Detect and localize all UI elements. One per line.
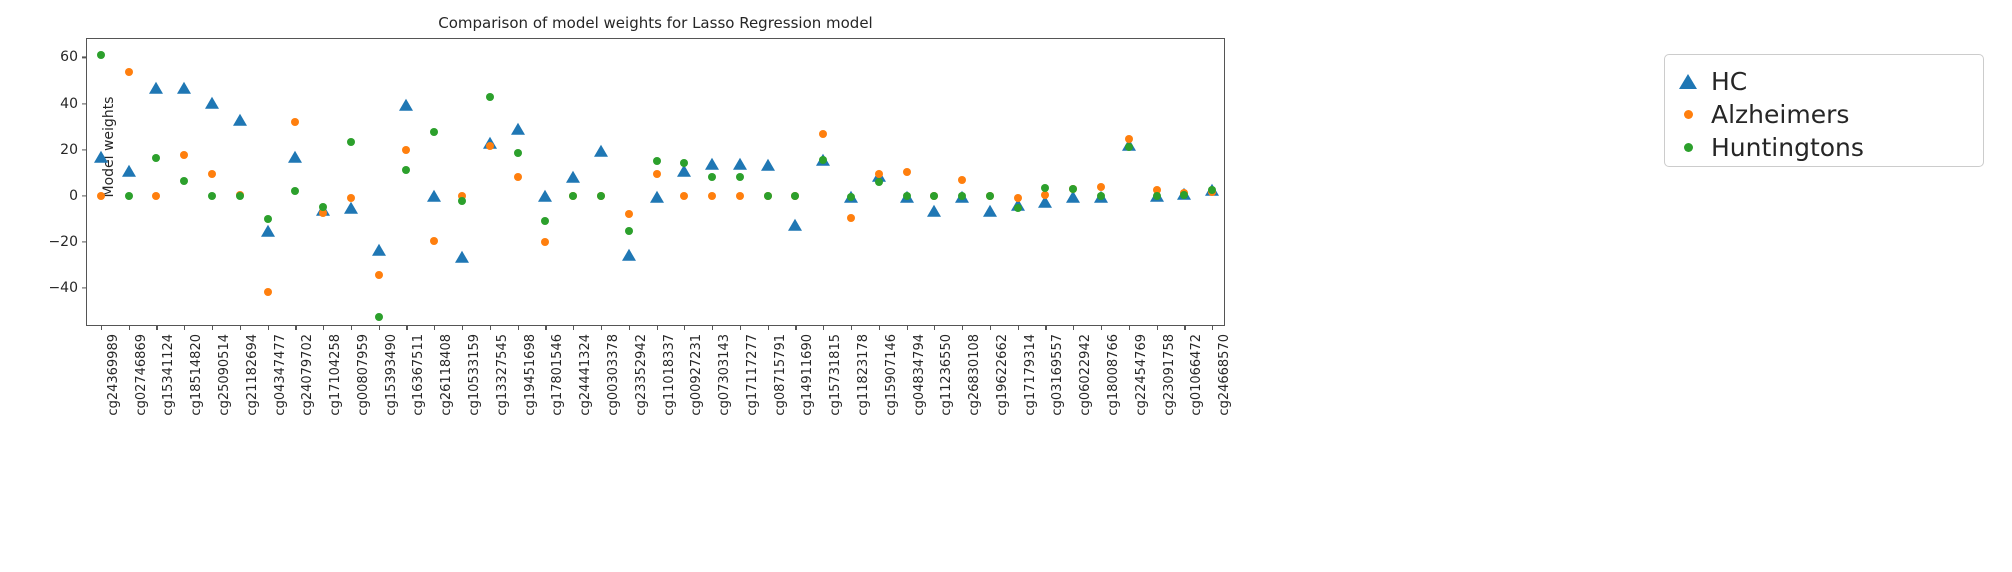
x-tick-label: cg06022942 bbox=[1078, 334, 1093, 416]
data-point-huntingtons bbox=[736, 173, 744, 181]
data-point-alzheimers bbox=[402, 146, 410, 154]
data-point-hc bbox=[122, 165, 136, 177]
x-tick-mark bbox=[573, 325, 574, 330]
data-point-huntingtons bbox=[1097, 192, 1105, 200]
x-tick-mark bbox=[406, 325, 407, 330]
legend-glyph bbox=[1679, 74, 1697, 89]
data-point-huntingtons bbox=[708, 173, 716, 181]
data-point-hc bbox=[788, 219, 802, 231]
legend-item-huntingtons[interactable]: Huntingtons bbox=[1665, 129, 1983, 165]
y-tick-label: 0 bbox=[69, 188, 78, 204]
data-point-huntingtons bbox=[680, 159, 688, 167]
x-tick-label: cg23091758 bbox=[1162, 334, 1177, 416]
x-tick-label: cg04834794 bbox=[912, 334, 927, 416]
x-tick-mark bbox=[629, 325, 630, 330]
x-tick-label: cg19451698 bbox=[523, 334, 538, 416]
data-point-huntingtons bbox=[264, 215, 272, 223]
x-tick-label: cg01066472 bbox=[1189, 334, 1204, 416]
x-tick-mark bbox=[379, 325, 380, 330]
data-point-hc bbox=[538, 190, 552, 202]
x-tick-label: cg15731815 bbox=[828, 334, 843, 416]
x-tick-label: cg21182694 bbox=[245, 334, 260, 416]
data-point-alzheimers bbox=[958, 176, 966, 184]
x-tick-label: cg26830108 bbox=[967, 334, 982, 416]
data-point-huntingtons bbox=[319, 203, 327, 211]
x-tick-mark bbox=[212, 325, 213, 330]
x-tick-label: cg02746869 bbox=[134, 334, 149, 416]
x-tick-label: cg04347477 bbox=[273, 334, 288, 416]
x-tick-mark bbox=[768, 325, 769, 330]
legend-marker-huntingtons-icon bbox=[1665, 143, 1711, 152]
data-point-alzheimers bbox=[208, 170, 216, 178]
y-tick-label: 20 bbox=[60, 142, 78, 158]
x-tick-label: cg17801546 bbox=[550, 334, 565, 416]
x-tick-label: cg13327545 bbox=[495, 334, 510, 416]
data-point-hc bbox=[566, 171, 580, 183]
y-tick-label: −40 bbox=[48, 280, 78, 296]
x-tick-mark bbox=[657, 325, 658, 330]
x-tick-label: cg11236550 bbox=[939, 334, 954, 416]
x-tick-mark bbox=[101, 325, 102, 330]
data-point-huntingtons bbox=[97, 51, 105, 59]
x-tick-label: cg00303378 bbox=[606, 334, 621, 416]
data-point-huntingtons bbox=[375, 313, 383, 321]
legend-glyph bbox=[1684, 143, 1693, 152]
x-tick-mark bbox=[1157, 325, 1158, 330]
data-point-alzheimers bbox=[1125, 135, 1133, 143]
data-point-huntingtons bbox=[541, 217, 549, 225]
x-tick-label: cg15907146 bbox=[884, 334, 899, 416]
legend-label: Huntingtons bbox=[1711, 133, 1864, 162]
data-point-alzheimers bbox=[125, 68, 133, 76]
x-tick-label: cg18514820 bbox=[189, 334, 204, 416]
scatter-points-layer bbox=[87, 39, 1224, 325]
x-tick-mark bbox=[907, 325, 908, 330]
x-tick-mark bbox=[934, 325, 935, 330]
x-tick-mark bbox=[268, 325, 269, 330]
x-tick-label: cg18008766 bbox=[1106, 334, 1121, 416]
x-tick-label: cg15341124 bbox=[161, 334, 176, 416]
x-tick-label: cg22454769 bbox=[1134, 334, 1149, 416]
data-point-hc bbox=[261, 224, 275, 236]
x-tick-label: cg25090514 bbox=[217, 334, 232, 416]
data-point-hc bbox=[372, 244, 386, 256]
x-tick-label: cg24441324 bbox=[578, 334, 593, 416]
data-point-alzheimers bbox=[1097, 183, 1105, 191]
data-point-huntingtons bbox=[903, 192, 911, 200]
x-tick-mark bbox=[295, 325, 296, 330]
x-tick-mark bbox=[129, 325, 130, 330]
data-point-alzheimers bbox=[291, 118, 299, 126]
x-tick-mark bbox=[545, 325, 546, 330]
x-tick-label: cg24369989 bbox=[106, 334, 121, 416]
data-point-huntingtons bbox=[597, 192, 605, 200]
x-tick-mark bbox=[1018, 325, 1019, 330]
chart-title: Comparison of model weights for Lasso Re… bbox=[86, 14, 1225, 32]
data-point-huntingtons bbox=[402, 166, 410, 174]
legend-marker-alzheimers-icon bbox=[1665, 110, 1711, 119]
legend-item-hc[interactable]: HC bbox=[1665, 63, 1983, 99]
data-point-huntingtons bbox=[152, 154, 160, 162]
x-tick-mark bbox=[1045, 325, 1046, 330]
x-tick-mark bbox=[1184, 325, 1185, 330]
x-tick-mark bbox=[879, 325, 880, 330]
x-tick-mark bbox=[156, 325, 157, 330]
x-tick-mark bbox=[795, 325, 796, 330]
data-point-hc bbox=[733, 158, 747, 170]
data-point-hc bbox=[399, 99, 413, 111]
data-point-huntingtons bbox=[486, 93, 494, 101]
data-point-alzheimers bbox=[819, 130, 827, 138]
data-point-alzheimers bbox=[903, 168, 911, 176]
x-tick-label: cg11823178 bbox=[856, 334, 871, 416]
x-tick-mark bbox=[1101, 325, 1102, 330]
data-point-hc bbox=[455, 251, 469, 263]
x-tick-mark bbox=[1212, 325, 1213, 330]
data-point-hc bbox=[94, 151, 108, 163]
x-tick-mark bbox=[434, 325, 435, 330]
data-point-huntingtons bbox=[514, 149, 522, 157]
data-point-hc bbox=[761, 159, 775, 171]
x-tick-mark bbox=[990, 325, 991, 330]
data-point-huntingtons bbox=[930, 192, 938, 200]
data-point-alzheimers bbox=[708, 192, 716, 200]
data-point-alzheimers bbox=[180, 151, 188, 159]
legend-glyph bbox=[1684, 110, 1693, 119]
x-tick-mark bbox=[184, 325, 185, 330]
data-point-alzheimers bbox=[1041, 191, 1049, 199]
x-tick-mark bbox=[323, 325, 324, 330]
data-point-hc bbox=[149, 81, 163, 93]
x-tick-label: cg17104258 bbox=[328, 334, 343, 416]
x-tick-label: cg17117277 bbox=[745, 334, 760, 416]
x-tick-mark bbox=[351, 325, 352, 330]
x-tick-label: cg07303143 bbox=[717, 334, 732, 416]
matplotlib-figure: Comparison of model weights for Lasso Re… bbox=[0, 0, 2012, 572]
data-point-hc bbox=[344, 202, 358, 214]
data-point-huntingtons bbox=[180, 177, 188, 185]
data-point-hc bbox=[594, 145, 608, 157]
data-point-huntingtons bbox=[1125, 143, 1133, 151]
data-point-huntingtons bbox=[1069, 185, 1077, 193]
data-point-hc bbox=[650, 191, 664, 203]
data-point-alzheimers bbox=[1014, 194, 1022, 202]
x-tick-label: cg23352942 bbox=[634, 334, 649, 416]
plot-axes: Model weights 6040200−20−40 cg24369989cg… bbox=[86, 38, 1225, 326]
x-tick-label: cg03169557 bbox=[1050, 334, 1065, 416]
data-point-huntingtons bbox=[791, 192, 799, 200]
x-tick-mark bbox=[518, 325, 519, 330]
x-tick-mark bbox=[490, 325, 491, 330]
data-point-alzheimers bbox=[97, 192, 105, 200]
x-tick-label: cg17179314 bbox=[1023, 334, 1038, 416]
data-point-huntingtons bbox=[819, 156, 827, 164]
data-point-alzheimers bbox=[847, 214, 855, 222]
data-point-alzheimers bbox=[375, 271, 383, 279]
data-point-huntingtons bbox=[653, 157, 661, 165]
data-point-huntingtons bbox=[875, 178, 883, 186]
data-point-huntingtons bbox=[347, 138, 355, 146]
data-point-alzheimers bbox=[347, 194, 355, 202]
data-point-hc bbox=[288, 151, 302, 163]
y-tick-label: −20 bbox=[48, 234, 78, 250]
data-point-hc bbox=[511, 123, 525, 135]
data-point-hc bbox=[622, 249, 636, 261]
x-tick-label: cg16367511 bbox=[411, 334, 426, 416]
data-point-huntingtons bbox=[208, 192, 216, 200]
data-point-alzheimers bbox=[736, 192, 744, 200]
x-tick-mark bbox=[684, 325, 685, 330]
x-tick-label: cg19622662 bbox=[995, 334, 1010, 416]
data-point-huntingtons bbox=[430, 128, 438, 136]
data-point-hc bbox=[427, 190, 441, 202]
data-point-huntingtons bbox=[625, 227, 633, 235]
data-point-hc bbox=[233, 114, 247, 126]
data-point-alzheimers bbox=[653, 170, 661, 178]
legend-marker-hc-icon bbox=[1665, 74, 1711, 89]
x-tick-mark bbox=[601, 325, 602, 330]
data-point-huntingtons bbox=[1208, 186, 1216, 194]
x-tick-mark bbox=[1073, 325, 1074, 330]
x-tick-label: cg15393490 bbox=[384, 334, 399, 416]
x-tick-label: cg00807959 bbox=[356, 334, 371, 416]
data-point-alzheimers bbox=[486, 142, 494, 150]
data-point-alzheimers bbox=[430, 237, 438, 245]
data-point-hc bbox=[177, 81, 191, 93]
data-point-huntingtons bbox=[764, 192, 772, 200]
data-point-huntingtons bbox=[125, 192, 133, 200]
data-point-huntingtons bbox=[958, 192, 966, 200]
chart-legend[interactable]: HCAlzheimersHuntingtons bbox=[1664, 54, 1984, 167]
x-tick-mark bbox=[740, 325, 741, 330]
x-tick-mark bbox=[462, 325, 463, 330]
x-tick-label: cg14911690 bbox=[800, 334, 815, 416]
y-tick-label: 40 bbox=[60, 96, 78, 112]
x-tick-label: cg10533159 bbox=[467, 334, 482, 416]
data-point-alzheimers bbox=[680, 192, 688, 200]
x-tick-label: cg24079702 bbox=[300, 334, 315, 416]
y-tick-label: 60 bbox=[60, 49, 78, 65]
legend-label: HC bbox=[1711, 67, 1747, 96]
data-point-huntingtons bbox=[291, 187, 299, 195]
data-point-hc bbox=[205, 97, 219, 109]
x-tick-label: cg24668570 bbox=[1217, 334, 1232, 416]
data-point-huntingtons bbox=[847, 193, 855, 201]
data-point-huntingtons bbox=[1180, 191, 1188, 199]
data-point-huntingtons bbox=[1014, 204, 1022, 212]
data-point-huntingtons bbox=[569, 192, 577, 200]
x-tick-mark bbox=[962, 325, 963, 330]
data-point-huntingtons bbox=[458, 197, 466, 205]
data-point-huntingtons bbox=[1153, 192, 1161, 200]
data-point-alzheimers bbox=[541, 238, 549, 246]
data-point-alzheimers bbox=[264, 288, 272, 296]
data-point-hc bbox=[927, 205, 941, 217]
data-point-alzheimers bbox=[625, 210, 633, 218]
legend-label: Alzheimers bbox=[1711, 100, 1849, 129]
data-point-hc bbox=[705, 158, 719, 170]
x-tick-mark bbox=[851, 325, 852, 330]
data-point-alzheimers bbox=[152, 192, 160, 200]
data-point-huntingtons bbox=[986, 192, 994, 200]
data-point-hc bbox=[983, 205, 997, 217]
x-tick-mark bbox=[823, 325, 824, 330]
legend-item-alzheimers[interactable]: Alzheimers bbox=[1665, 96, 1983, 132]
x-tick-mark bbox=[712, 325, 713, 330]
data-point-alzheimers bbox=[875, 170, 883, 178]
x-tick-mark bbox=[1129, 325, 1130, 330]
x-tick-mark bbox=[240, 325, 241, 330]
x-tick-label: cg00927231 bbox=[689, 334, 704, 416]
x-tick-label: cg11018337 bbox=[662, 334, 677, 416]
data-point-huntingtons bbox=[236, 192, 244, 200]
data-point-huntingtons bbox=[1041, 184, 1049, 192]
x-tick-label: cg08715791 bbox=[773, 334, 788, 416]
data-point-alzheimers bbox=[514, 173, 522, 181]
x-tick-label: cg26118408 bbox=[439, 334, 454, 416]
